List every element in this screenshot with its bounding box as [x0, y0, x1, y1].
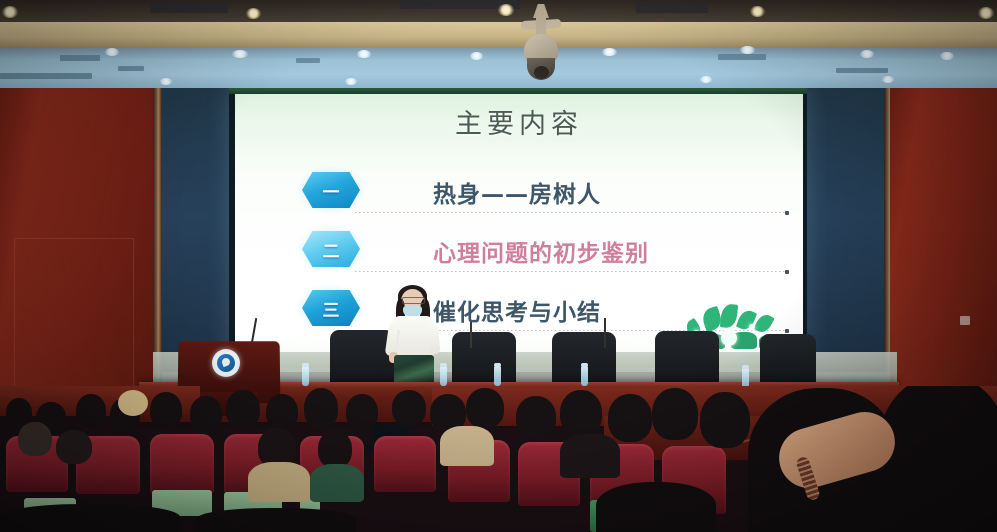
water-bottle-cap: [440, 363, 447, 367]
ceiling-spotlight: [978, 7, 994, 19]
ceiling-beam: [0, 22, 997, 48]
audience-head: [150, 392, 182, 428]
slide-title: 主要内容: [235, 102, 803, 141]
foreground-audience-head: [0, 504, 180, 532]
ceiling-duct: [836, 68, 888, 73]
microphone-icon: [604, 318, 606, 348]
ceiling-duct: [718, 54, 766, 60]
ceiling-downlight: [700, 76, 712, 83]
water-bottle-cap: [302, 363, 309, 367]
water-bottle: [440, 366, 447, 386]
projected-slide: 主要内容 一 热身——房树人 二 心理问题的初步鉴别: [235, 94, 803, 372]
ceiling-spotlight: [498, 4, 514, 16]
stage-chair: [760, 334, 816, 386]
ceiling-vent: [150, 2, 228, 13]
water-bottle-cap: [581, 363, 588, 367]
stage-chair: [655, 331, 719, 386]
ceiling-spotlight: [2, 6, 18, 18]
ceiling: [0, 0, 997, 96]
agenda-text-1: 热身——房树人: [433, 170, 601, 214]
ceiling-duct: [296, 58, 320, 63]
leader-line: [355, 212, 785, 213]
slide-agenda-item: 二 心理问题的初步鉴别: [235, 229, 803, 273]
audience-shoulders: [560, 434, 620, 478]
wall-right-wood: [890, 88, 997, 410]
badge-label: 三: [302, 290, 360, 326]
audience-head: [318, 430, 352, 468]
foreground-audience-head: [878, 386, 997, 532]
water-bottle: [302, 366, 309, 386]
audience-shoulders: [440, 426, 494, 466]
hexagon-badge-2: 二: [302, 231, 360, 267]
foreground-audience-head: [596, 482, 716, 532]
ceiling-duct: [60, 55, 100, 61]
stage-chair: [330, 330, 394, 386]
water-bottle: [742, 368, 749, 388]
hexagon-badge-1: 一: [302, 172, 360, 208]
ceiling-downlight: [740, 46, 755, 54]
ceiling-downlight: [160, 78, 172, 85]
audience-seat: [150, 434, 214, 494]
ceiling-downlight: [940, 52, 954, 60]
audience-head: [304, 388, 338, 428]
water-bottle-cap: [742, 365, 749, 369]
hexagon-badge-3: 三: [302, 290, 360, 326]
audience-head: [56, 430, 92, 464]
audience-head: [392, 390, 426, 426]
audience-head: [266, 394, 298, 430]
ceiling-downlight: [232, 50, 248, 58]
water-bottle: [494, 366, 501, 386]
ceiling-downlight: [470, 52, 483, 60]
agenda-text-2: 心理问题的初步鉴别: [433, 229, 649, 273]
ceiling-vent: [636, 3, 708, 13]
audience-area: [0, 386, 997, 532]
ceiling-downlight: [105, 48, 119, 56]
ceiling-downlight: [357, 50, 371, 58]
leader-line: [355, 271, 785, 272]
audience-head: [700, 392, 750, 448]
glasses-icon: [402, 297, 425, 304]
ceiling-downlight: [345, 78, 357, 85]
audience-head: [76, 394, 106, 428]
audience-seat: [374, 436, 436, 492]
audience-head: [608, 394, 652, 442]
audience-head: [346, 394, 378, 430]
ceiling-duct: [0, 73, 92, 79]
ceiling-spotlight: [750, 6, 765, 17]
badge-label: 二: [302, 231, 360, 267]
leader-end-dot: [785, 270, 789, 274]
audience-head: [652, 388, 698, 440]
audience-head: [18, 422, 52, 456]
badge-label: 一: [302, 172, 360, 208]
lecture-hall-photo: 主要内容 一 热身——房树人 二 心理问题的初步鉴别: [0, 0, 997, 532]
audience-shoulders: [310, 464, 364, 502]
foreground-audience-head: [196, 508, 356, 532]
wall-left-wood: [0, 88, 153, 410]
audience-hat: [118, 390, 148, 416]
audience-shoulders: [248, 462, 310, 502]
ceiling-downlight: [860, 50, 874, 58]
water-bottle-cap: [494, 363, 501, 367]
microphone-icon: [470, 322, 472, 348]
ceiling-downlight: [602, 48, 617, 56]
agenda-text-3: 催化思考与小结: [433, 288, 601, 332]
audience-head: [466, 388, 504, 428]
audience-head: [226, 390, 260, 428]
water-bottle: [581, 366, 588, 386]
audience-head: [516, 396, 556, 438]
audience-head: [190, 396, 222, 432]
ceiling-spotlight: [246, 8, 261, 19]
ceiling-downlight: [882, 76, 894, 83]
leader-end-dot: [785, 211, 789, 215]
ceiling-duct: [118, 66, 144, 71]
audience-head: [560, 390, 602, 436]
stage-chair: [452, 332, 516, 386]
slide-agenda-item: 一 热身——房树人: [235, 170, 803, 214]
